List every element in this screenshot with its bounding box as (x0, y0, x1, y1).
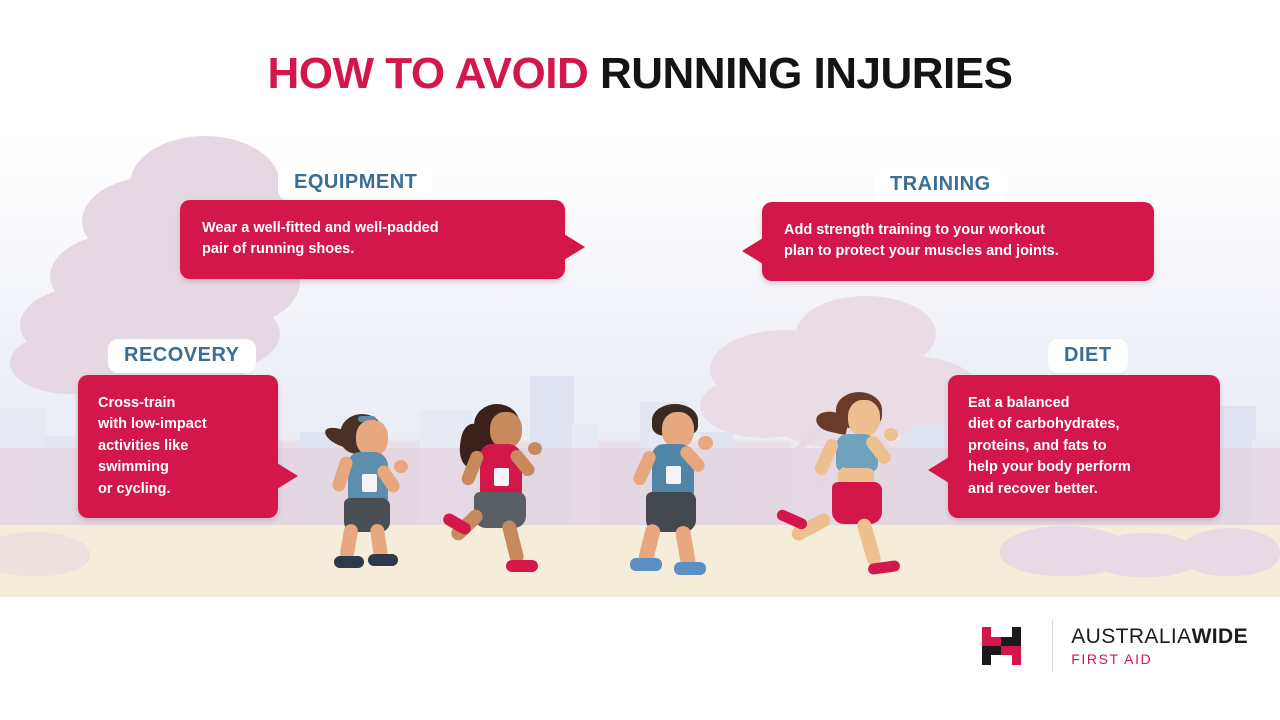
logo-divider (1052, 620, 1053, 672)
runner-3-shoe-back (630, 558, 662, 571)
runner-4-head (848, 400, 880, 436)
runner-1-fist (394, 460, 408, 473)
brand-logo[interactable]: AUSTRALIAWIDE FIRST AID (980, 619, 1248, 673)
card-diet[interactable]: Eat a balanced diet of carbohydrates, pr… (948, 375, 1220, 518)
runner-2-fist (528, 442, 542, 455)
runner-2-bib (494, 468, 509, 486)
title-rest: RUNNING INJURIES (600, 49, 1013, 98)
runner-1-shoe-front (368, 554, 398, 566)
card-diet-body: Eat a balanced diet of carbohydrates, pr… (948, 375, 1220, 518)
card-training-tail (742, 238, 763, 264)
logo-name: AUSTRALIAWIDE (1071, 626, 1248, 648)
card-recovery-body: Cross-train with low-impact activities l… (78, 375, 278, 518)
logo-wordmark: AUSTRALIAWIDE FIRST AID (1071, 626, 1248, 667)
runner-1 (330, 408, 435, 573)
card-recovery-tail (277, 463, 298, 489)
section-label-diet: DIET (1048, 339, 1128, 373)
card-equipment[interactable]: Wear a well-fitted and well-padded pair … (180, 200, 565, 279)
runner-3 (630, 400, 740, 580)
runner-1-head (356, 420, 388, 456)
page-title: HOW TO AVOID RUNNING INJURIES (0, 52, 1280, 96)
runner-2-shorts (474, 492, 526, 528)
runner-3-fist (698, 436, 713, 450)
runner-4-leg-front (856, 517, 883, 567)
section-label-training: TRAINING (874, 168, 1007, 202)
runner-3-bib (666, 466, 681, 484)
title-highlight: HOW TO AVOID (268, 49, 589, 98)
australia-wide-cross-icon (980, 619, 1034, 673)
runner-4-fist (884, 428, 898, 441)
logo-tagline: FIRST AID (1071, 652, 1248, 667)
section-label-equipment: EQUIPMENT (278, 166, 433, 200)
card-equipment-body: Wear a well-fitted and well-padded pair … (180, 200, 565, 279)
section-label-recovery: RECOVERY (108, 339, 256, 373)
logo-name-bold: WIDE (1192, 625, 1248, 648)
infographic-canvas: HOW TO AVOID RUNNING INJURIES EQUIPMENT … (0, 0, 1280, 720)
runner-3-head (662, 412, 694, 448)
runner-1-shoe-back (334, 556, 364, 568)
card-training[interactable]: Add strength training to your workout pl… (762, 202, 1154, 281)
bush-left-1 (0, 532, 90, 576)
runner-2 (440, 400, 565, 580)
runner-1-bib (362, 474, 377, 492)
bush-right-3 (1180, 528, 1280, 576)
card-equipment-tail (564, 234, 585, 260)
card-training-body: Add strength training to your workout pl… (762, 202, 1154, 281)
logo-name-thin: AUSTRALIA (1071, 625, 1191, 648)
runner-2-head (490, 412, 522, 448)
runner-4-shorts (832, 482, 882, 524)
runner-2-shoe-front (506, 560, 538, 572)
runner-3-shoe-front (674, 562, 706, 575)
runner-4 (790, 390, 915, 580)
card-recovery[interactable]: Cross-train with low-impact activities l… (78, 375, 278, 518)
footer: AUSTRALIAWIDE FIRST AID (0, 597, 1280, 720)
runner-2-leg-front (501, 519, 525, 565)
card-diet-tail (928, 457, 949, 483)
